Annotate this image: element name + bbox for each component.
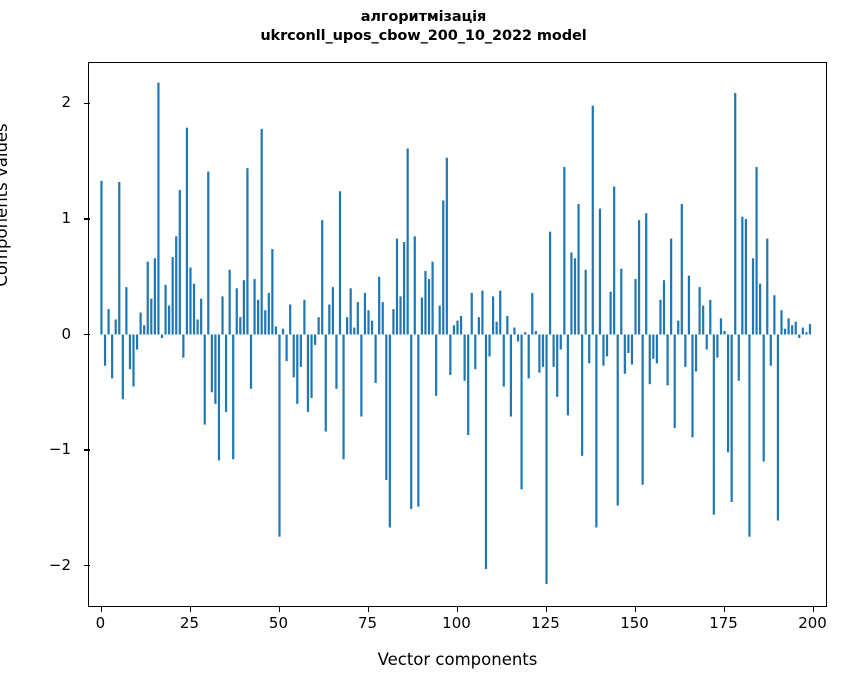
plot-axes (88, 62, 827, 607)
bar (798, 335, 800, 338)
bar (471, 293, 473, 335)
bar (189, 267, 191, 334)
x-tick-label: 200 (798, 614, 827, 632)
bar (617, 335, 619, 506)
bar (510, 335, 512, 417)
bar (513, 328, 515, 335)
bar (695, 335, 697, 372)
bar (759, 284, 761, 335)
y-axis-tick (84, 565, 90, 566)
bar (456, 321, 458, 335)
bar-series-area (89, 63, 826, 606)
bar (243, 280, 245, 334)
x-axis-tick (813, 606, 814, 612)
bar (289, 304, 291, 334)
bar (104, 335, 106, 366)
bar (777, 335, 779, 521)
bar (207, 172, 209, 335)
bar (620, 269, 622, 335)
bar (147, 262, 149, 335)
bar (560, 335, 562, 350)
bar (342, 335, 344, 460)
bar (204, 335, 206, 425)
x-axis-tick (457, 606, 458, 612)
bar (293, 335, 295, 378)
bar (360, 335, 362, 417)
bar (371, 321, 373, 335)
bar (681, 204, 683, 335)
bar (788, 318, 790, 334)
bar (282, 329, 284, 335)
bar (446, 158, 448, 335)
x-axis-tick-labels: 0 25 50 75 100 125 150 175 200 (88, 614, 827, 638)
bar (731, 335, 733, 503)
chart-title-line-2: ukrconll_upos_cbow_200_10_2022 model (0, 27, 847, 46)
bar (606, 335, 608, 357)
bar (392, 309, 394, 334)
bar (503, 335, 505, 387)
bar (239, 317, 241, 334)
bar (627, 335, 629, 353)
bar (602, 335, 604, 366)
bar (140, 313, 142, 335)
bar (588, 335, 590, 364)
bar (755, 167, 757, 335)
bar (763, 335, 765, 462)
bar (663, 280, 665, 334)
bar (186, 128, 188, 335)
bar (175, 236, 177, 334)
bar (688, 276, 690, 335)
y-tick-label: 2 (61, 93, 71, 111)
bar (723, 331, 725, 334)
bar (253, 279, 255, 334)
bar (645, 213, 647, 334)
bar (332, 287, 334, 334)
bar (172, 257, 174, 334)
chart-title-line-1: алгоритмізація (0, 8, 847, 27)
bar (492, 296, 494, 334)
bar (417, 335, 419, 507)
bar (542, 335, 544, 367)
bar (407, 148, 409, 334)
bar (431, 262, 433, 335)
bar (738, 335, 740, 381)
bar (684, 335, 686, 367)
bar (720, 318, 722, 334)
bar (574, 258, 576, 334)
bar (399, 296, 401, 334)
bar (278, 335, 280, 537)
x-axis-tick (724, 606, 725, 612)
bar (556, 335, 558, 397)
bar (520, 335, 522, 490)
bar (699, 287, 701, 334)
bar (634, 279, 636, 334)
bar (780, 310, 782, 334)
bar (545, 335, 547, 585)
bar (631, 335, 633, 365)
bar (460, 316, 462, 334)
bar (353, 328, 355, 335)
bar (232, 335, 234, 460)
bar (506, 316, 508, 334)
bar (741, 217, 743, 335)
bar (115, 319, 117, 334)
bar (300, 335, 302, 367)
bar (403, 242, 405, 334)
bar (517, 335, 519, 342)
bar (549, 232, 551, 335)
bar (286, 335, 288, 362)
bar (257, 300, 259, 335)
bar (107, 309, 109, 334)
bar (706, 335, 708, 350)
bar (236, 288, 238, 334)
bar (122, 335, 124, 400)
bar (303, 300, 305, 335)
bar (261, 129, 263, 335)
bar (773, 295, 775, 334)
bar (791, 325, 793, 334)
bar (467, 335, 469, 436)
bar (577, 204, 579, 335)
bar (325, 335, 327, 432)
chart-title: алгоритмізація ukrconll_upos_cbow_200_10… (0, 8, 847, 46)
bar (132, 335, 134, 387)
x-axis-label: Vector components (88, 650, 827, 669)
bar (396, 239, 398, 335)
bar (642, 335, 644, 485)
bar (314, 335, 316, 345)
bar (745, 219, 747, 335)
bar (666, 335, 668, 386)
x-axis-tick (190, 606, 191, 612)
bar (488, 335, 490, 357)
bar (499, 291, 501, 335)
bar (674, 335, 676, 429)
bar (677, 321, 679, 335)
bar (748, 335, 750, 537)
bar (307, 335, 309, 412)
bar (221, 296, 223, 334)
y-axis-tick-labels: 2 1 0 −1 −2 (0, 62, 80, 607)
bar (713, 335, 715, 515)
bar (414, 236, 416, 334)
bar (246, 168, 248, 334)
bar (528, 335, 530, 379)
bar (129, 335, 131, 370)
bar (375, 335, 377, 384)
bar (271, 249, 273, 334)
bar (193, 284, 195, 335)
bar (328, 304, 330, 334)
bar (805, 332, 807, 334)
bar (100, 181, 102, 335)
bar (784, 329, 786, 335)
bar (310, 335, 312, 399)
x-axis-tick (368, 606, 369, 612)
bar (264, 310, 266, 334)
bar (592, 106, 594, 335)
bar (410, 335, 412, 509)
bar (136, 335, 138, 350)
bar (770, 335, 772, 366)
bar (214, 335, 216, 404)
bar (211, 335, 213, 393)
x-tick-label: 150 (620, 614, 649, 632)
y-axis-tick (84, 334, 90, 335)
bar (474, 335, 476, 370)
bar (389, 335, 391, 528)
x-tick-label: 25 (180, 614, 199, 632)
x-tick-label: 75 (358, 614, 377, 632)
bar (179, 190, 181, 334)
y-tick-label: −1 (49, 440, 71, 458)
bar (538, 335, 540, 373)
bar (382, 302, 384, 334)
bar (449, 335, 451, 375)
bar (424, 271, 426, 335)
bar (218, 335, 220, 461)
bar (364, 293, 366, 335)
bar (734, 93, 736, 334)
bar (357, 302, 359, 334)
bar (581, 335, 583, 456)
bar (250, 335, 252, 389)
bar (766, 239, 768, 335)
bar (595, 335, 597, 528)
bar (709, 300, 711, 335)
bar (570, 252, 572, 334)
x-tick-label: 50 (269, 614, 288, 632)
y-tick-label: 1 (61, 209, 71, 227)
x-axis-tick (279, 606, 280, 612)
bar (453, 325, 455, 334)
bars-svg (89, 63, 826, 606)
bar (802, 328, 804, 335)
bar (421, 298, 423, 335)
bar (464, 335, 466, 381)
bar (478, 317, 480, 334)
bar (225, 335, 227, 412)
bar (318, 317, 320, 334)
bar (496, 322, 498, 335)
bar (691, 335, 693, 438)
bar (196, 319, 198, 334)
bar (485, 335, 487, 570)
x-axis-tick (101, 606, 102, 612)
bar (111, 335, 113, 379)
bar (200, 299, 202, 335)
bar (652, 335, 654, 359)
bar (182, 335, 184, 358)
x-tick-label: 175 (709, 614, 738, 632)
bar (670, 239, 672, 335)
bar (435, 335, 437, 396)
bar (168, 306, 170, 335)
y-axis-tick (84, 103, 90, 104)
bar (385, 335, 387, 481)
x-tick-label: 125 (531, 614, 560, 632)
bar (161, 335, 163, 338)
bar (716, 335, 718, 358)
x-tick-label: 0 (96, 614, 106, 632)
y-axis-tick (84, 218, 90, 219)
bar (481, 291, 483, 335)
bar (164, 285, 166, 335)
bar (553, 335, 555, 367)
bar (154, 258, 156, 334)
bar (321, 220, 323, 334)
bar (346, 317, 348, 334)
bar (599, 209, 601, 335)
bar (439, 306, 441, 335)
x-axis-tick (546, 606, 547, 612)
bar (428, 279, 430, 334)
bar (613, 187, 615, 335)
bar (296, 335, 298, 404)
bar (524, 332, 526, 334)
bar (656, 335, 658, 364)
bar (795, 322, 797, 335)
bar (335, 335, 337, 389)
bar (624, 335, 626, 374)
bar (531, 293, 533, 335)
bar (143, 325, 145, 334)
bar (752, 258, 754, 334)
bar (638, 220, 640, 334)
bar (275, 326, 277, 334)
bar (150, 299, 152, 335)
bar (118, 182, 120, 335)
bar (609, 292, 611, 335)
figure-canvas: алгоритмізація ukrconll_upos_cbow_200_10… (0, 0, 847, 696)
bar (585, 270, 587, 335)
bar (649, 335, 651, 385)
x-axis-tick (635, 606, 636, 612)
bar (268, 293, 270, 335)
bar (442, 200, 444, 334)
bar (157, 83, 159, 335)
bar (350, 288, 352, 334)
x-tick-label: 100 (442, 614, 471, 632)
bar (378, 277, 380, 335)
bar (702, 306, 704, 335)
bar (563, 167, 565, 335)
bar (809, 324, 811, 334)
y-tick-label: −2 (49, 556, 71, 574)
bar (229, 270, 231, 335)
bar (367, 310, 369, 334)
bar (125, 287, 127, 334)
y-tick-label: 0 (61, 325, 71, 343)
y-axis-tick (84, 449, 90, 450)
bar (339, 191, 341, 334)
bar (567, 335, 569, 416)
bar (535, 331, 537, 334)
bar (659, 300, 661, 335)
bar (727, 335, 729, 453)
